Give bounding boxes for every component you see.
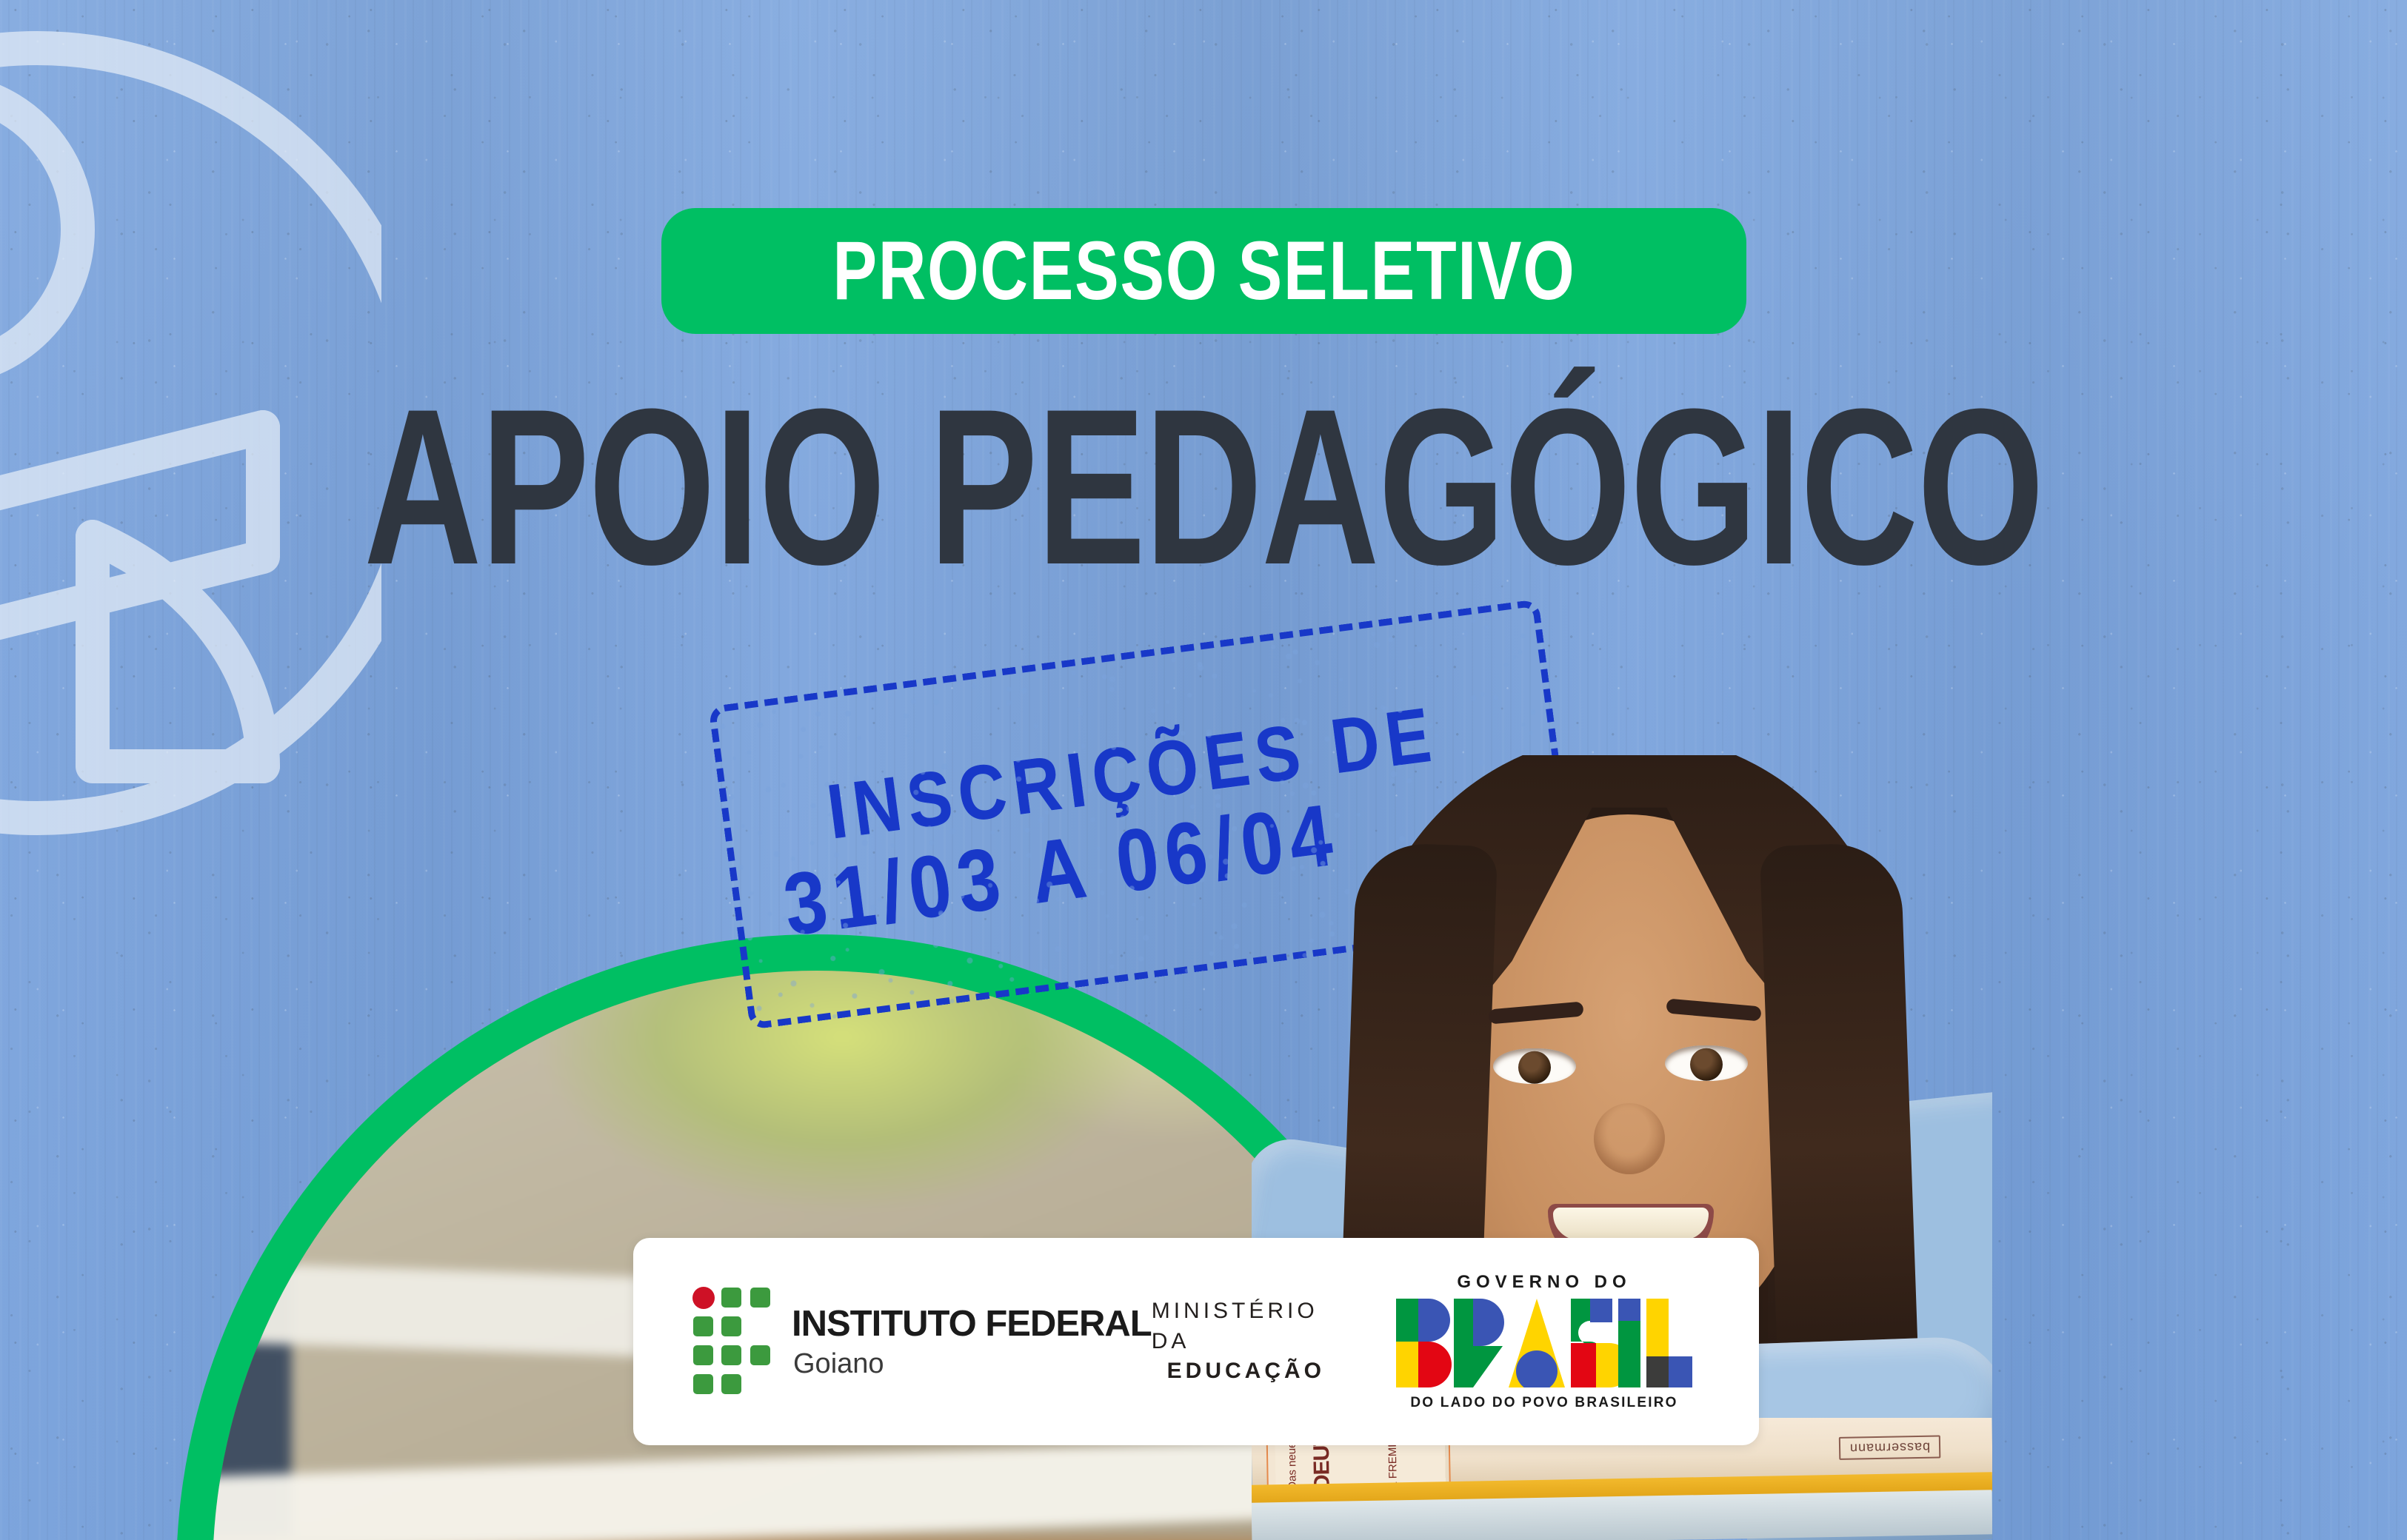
processo-seletivo-badge: PROCESSO SELETIVO xyxy=(661,208,1746,334)
ministerio-educacao-logo: MINISTÉRIO DA EDUCAÇÃO xyxy=(1152,1296,1325,1387)
eye-left xyxy=(1493,1048,1576,1084)
ministerio-line-1: MINISTÉRIO DA xyxy=(1152,1296,1325,1356)
governo-do-brasil-logo: GOVERNO DO xyxy=(1396,1272,1692,1411)
instituto-federal-campus: Goiano xyxy=(793,1350,1152,1378)
instituto-federal-name: INSTITUTO FEDERAL xyxy=(792,1306,1152,1342)
book-publisher: bassermann xyxy=(1839,1435,1941,1459)
page-title: APOIO PEDAGÓGICO xyxy=(319,381,2089,592)
poster-canvas: PROCESSO SELETIVO APOIO PEDAGÓGICO INSCR… xyxy=(0,0,2407,1540)
eye-right xyxy=(1665,1045,1748,1081)
badge-label: PROCESSO SELETIVO xyxy=(832,230,1575,312)
nose xyxy=(1594,1103,1665,1174)
if-logo-grid xyxy=(692,1287,771,1396)
ministerio-line-2: EDUCAÇÃO xyxy=(1167,1356,1325,1387)
governo-top-label: GOVERNO DO xyxy=(1457,1272,1631,1293)
instituto-federal-logo: INSTITUTO FEDERAL Goiano xyxy=(692,1287,1152,1396)
brasil-wordmark-icon xyxy=(1396,1299,1692,1387)
if-red-dot-icon xyxy=(692,1287,715,1309)
footer-logo-bar: INSTITUTO FEDERAL Goiano MINISTÉRIO DA E… xyxy=(633,1238,1759,1445)
governo-bottom-label: DO LADO DO POVO BRASILEIRO xyxy=(1410,1395,1677,1411)
